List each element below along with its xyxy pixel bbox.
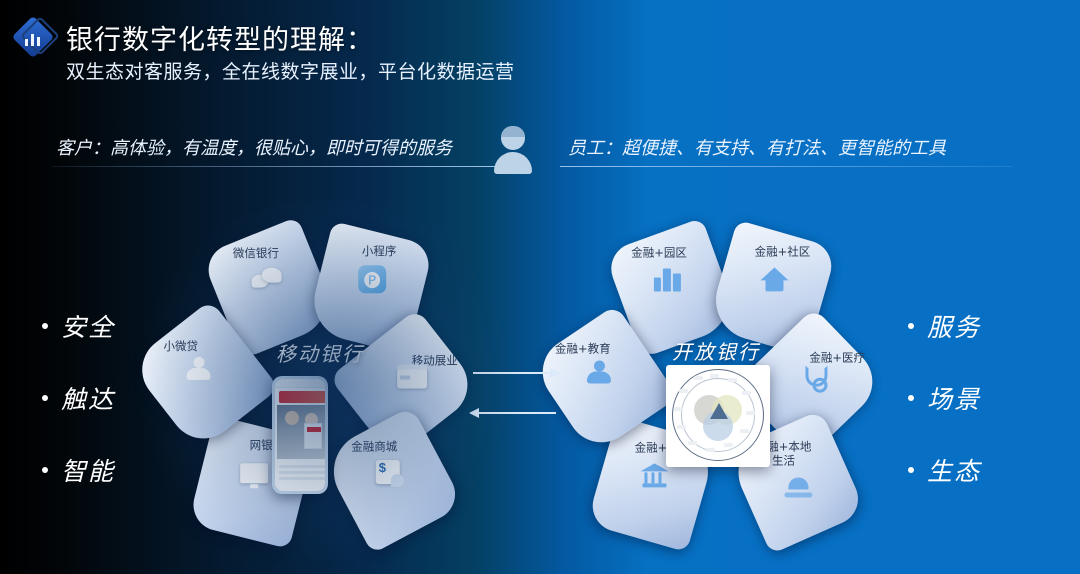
bullet-dot-icon bbox=[42, 323, 48, 329]
user-badge-icon bbox=[182, 354, 216, 384]
petal-label: 金融商城 bbox=[326, 439, 422, 453]
employee-caption-underline bbox=[560, 166, 1012, 167]
right-bullet-label: 服务 bbox=[927, 308, 981, 344]
customer-caption: 客户：高体验，有温度，很贴心，即时可得的服务 bbox=[56, 134, 452, 160]
slide-canvas: 银行数字化转型的理解： 双生态对客服务，全在线数字展业，平台化数据运营 客户：高… bbox=[0, 0, 1080, 574]
petal-label: 小程序 bbox=[331, 244, 427, 258]
left-bullet-label: 安全 bbox=[61, 308, 115, 344]
bullet-dot-icon bbox=[42, 395, 48, 401]
page-subtitle: 双生态对客服务，全在线数字展业，平台化数据运营 bbox=[66, 57, 515, 84]
right-bullet-1: 场景 bbox=[908, 362, 981, 434]
left-bullet-2: 智能 bbox=[42, 434, 115, 506]
page-title: 银行数字化转型的理解： bbox=[66, 18, 374, 57]
bullet-dot-icon bbox=[908, 395, 914, 401]
mobile-bank-cluster: 微信银行 小程序 移动展业 金融商城 网银 小微贷 移动银行 bbox=[140, 228, 500, 528]
right-bullet-label: 生态 bbox=[927, 452, 981, 488]
right-bullet-0: 服务 bbox=[908, 290, 981, 362]
stethoscope-icon bbox=[799, 363, 833, 393]
mobile-bank-center-title: 移动银行 bbox=[220, 338, 420, 367]
wechat-bubble-icon bbox=[250, 265, 284, 295]
finance-mall-icon bbox=[371, 457, 405, 487]
left-bullet-label: 智能 bbox=[61, 452, 115, 488]
petal-label: 金融+社区 bbox=[734, 244, 830, 258]
bullet-dot-icon bbox=[908, 467, 914, 473]
person-icon bbox=[492, 126, 534, 172]
employee-caption: 员工：超便捷、有支持、有打法、更智能的工具 bbox=[568, 134, 946, 160]
right-bullet-label: 场景 bbox=[927, 380, 981, 416]
house-icon bbox=[757, 265, 791, 295]
monitor-icon bbox=[237, 459, 271, 489]
left-bullet-1: 触达 bbox=[42, 362, 115, 434]
mobile-phone-app-mockup bbox=[272, 376, 328, 494]
buildings-icon bbox=[652, 265, 686, 295]
local-life-icon bbox=[781, 472, 815, 502]
petal-label: 金融+园区 bbox=[611, 245, 707, 259]
right-bullet-list: 服务 场景 生态 bbox=[908, 290, 981, 506]
credit-card-icon bbox=[395, 364, 429, 394]
arrow-right-to-left bbox=[478, 412, 556, 414]
right-bullet-2: 生态 bbox=[908, 434, 981, 506]
arrow-left-to-right bbox=[473, 372, 551, 374]
open-bank-cluster: 金融+园区 金融+社区 金融+医疗 金融+本地 生活 金融+政府 金融+教育 bbox=[538, 228, 898, 528]
left-bullet-0: 安全 bbox=[42, 290, 115, 362]
petal-label: 微信银行 bbox=[208, 246, 304, 260]
customer-caption-underline bbox=[52, 166, 500, 167]
bullet-dot-icon bbox=[908, 323, 914, 329]
mini-program-icon bbox=[355, 265, 389, 295]
brand-logo-icon bbox=[14, 18, 56, 60]
education-person-icon bbox=[582, 358, 616, 388]
ecosystem-circle-diagram bbox=[666, 365, 770, 467]
petal-label: 小微贷 bbox=[133, 339, 229, 353]
open-bank-center-title: 开放银行 bbox=[616, 336, 816, 365]
left-bullet-list: 安全 触达 智能 bbox=[42, 290, 115, 506]
petal-finance-mall[interactable]: 金融商城 bbox=[320, 406, 464, 554]
bullet-dot-icon bbox=[42, 467, 48, 473]
left-bullet-label: 触达 bbox=[61, 380, 115, 416]
